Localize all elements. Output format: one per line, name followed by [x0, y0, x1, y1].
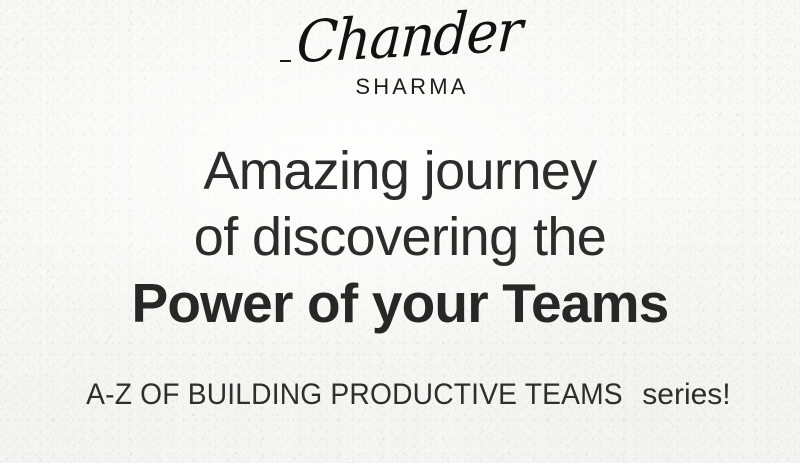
promotional-poster: Chander SHARMA Amazing journey of discov…	[0, 0, 800, 463]
series-tagline: A-Z OF BUILDING PRODUCTIVE TEAMSseries!	[0, 378, 800, 412]
headline-line-2: of discovering the	[0, 204, 800, 270]
brand-surname: SHARMA	[331, 74, 468, 100]
headline-line-1: Amazing journey	[0, 138, 800, 204]
series-tagline-main: A-Z OF BUILDING PRODUCTIVE TEAMS	[86, 378, 623, 412]
headline-line-3-emphasis: Power of your Teams	[0, 270, 800, 336]
brand-dash-mark	[280, 60, 291, 62]
brand-script-name: Chander	[295, 2, 523, 76]
series-tagline-suffix: series!	[642, 378, 730, 411]
brand-script-row: Chander	[280, 14, 520, 76]
headline-block: Amazing journey of discovering the Power…	[0, 138, 800, 336]
brand-logo: Chander SHARMA	[0, 14, 800, 100]
